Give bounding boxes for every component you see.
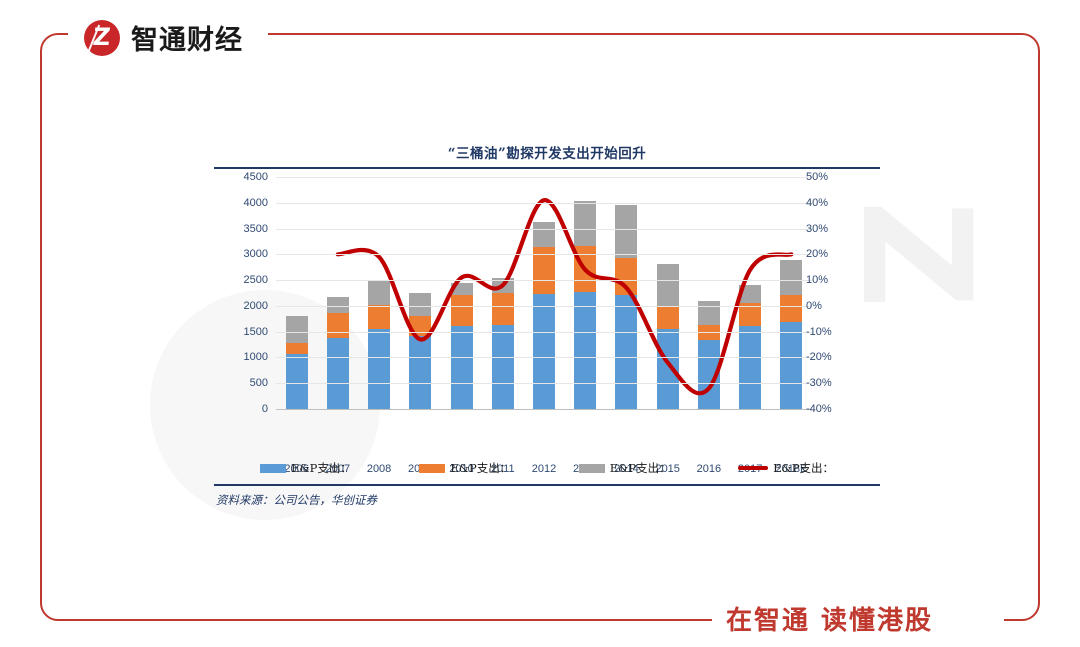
legend-label: E&P支出： — [610, 460, 671, 476]
gridline — [276, 177, 812, 178]
y-axis-right-tick: 10% — [806, 274, 856, 286]
line-series-layer — [276, 169, 812, 459]
gridline — [276, 280, 812, 281]
gridline — [276, 383, 812, 384]
gridline — [276, 229, 812, 230]
gridline — [276, 306, 812, 307]
y-axis-right-tick: 0% — [806, 300, 856, 312]
y-axis-left-tick: 500 — [222, 377, 268, 389]
y-axis-left-tick: 3000 — [222, 248, 268, 260]
legend-box-swatch — [419, 464, 445, 473]
legend-box-swatch — [579, 464, 605, 473]
y-axis-right-tick: 40% — [806, 197, 856, 209]
chart-source: 资料来源：公司公告，华创证券 — [216, 492, 377, 508]
y-axis-right-tick: 30% — [806, 223, 856, 235]
chart-title: “三桶油”勘探开发支出开始回升 — [214, 140, 880, 162]
footer-tagline: 在智通 读懂港股 — [726, 600, 933, 637]
gridline — [276, 254, 812, 255]
title-rule-bottom — [214, 484, 880, 486]
gridline — [276, 332, 812, 333]
y-axis-right-tick: 50% — [806, 171, 856, 183]
chart-plot-area: 2006200720082009201020112012201320142015… — [214, 169, 880, 459]
legend-item[interactable]: E&P支出： — [738, 460, 834, 476]
logo-glyph: Z — [92, 25, 112, 49]
y-axis-right-tick: -10% — [806, 326, 856, 338]
y-axis-left-tick: 0 — [222, 403, 268, 415]
legend-item[interactable]: E&P支出： — [579, 460, 671, 476]
y-axis-right-tick: -20% — [806, 351, 856, 363]
y-axis-left-tick: 4000 — [222, 197, 268, 209]
chart-legend: E&P支出：E&P支出：E&P支出：E&P支出： — [244, 458, 850, 478]
gridline — [276, 357, 812, 358]
logo-z-icon: Z — [84, 20, 120, 56]
y-axis-right-tick: -40% — [806, 403, 856, 415]
brand-logo: Z 智通财经 — [84, 18, 243, 57]
legend-label: E&P支出： — [450, 460, 511, 476]
legend-label: E&P支出： — [773, 460, 834, 476]
y-axis-left-tick: 2000 — [222, 300, 268, 312]
legend-item[interactable]: E&P支出： — [260, 460, 352, 476]
page-root: Z Z 智通财经 “三桶油”勘探开发支出开始回升 200620072008200… — [0, 0, 1080, 647]
y-axis-left-tick: 2500 — [222, 274, 268, 286]
chart-card: “三桶油”勘探开发支出开始回升 200620072008200920102011… — [214, 140, 880, 515]
legend-line-swatch — [738, 466, 768, 470]
y-axis-right-tick: -30% — [806, 377, 856, 389]
y-axis-left-tick: 3500 — [222, 223, 268, 235]
y-axis-left-tick: 4500 — [222, 171, 268, 183]
y-axis-left-tick: 1000 — [222, 351, 268, 363]
y-axis-left-tick: 1500 — [222, 326, 268, 338]
legend-item[interactable]: E&P支出： — [419, 460, 511, 476]
gridline — [276, 203, 812, 204]
legend-label: E&P支出： — [291, 460, 352, 476]
y-axis-right-tick: 20% — [806, 248, 856, 260]
gridline — [276, 409, 812, 410]
legend-box-swatch — [260, 464, 286, 473]
brand-name: 智通财经 — [131, 18, 243, 57]
